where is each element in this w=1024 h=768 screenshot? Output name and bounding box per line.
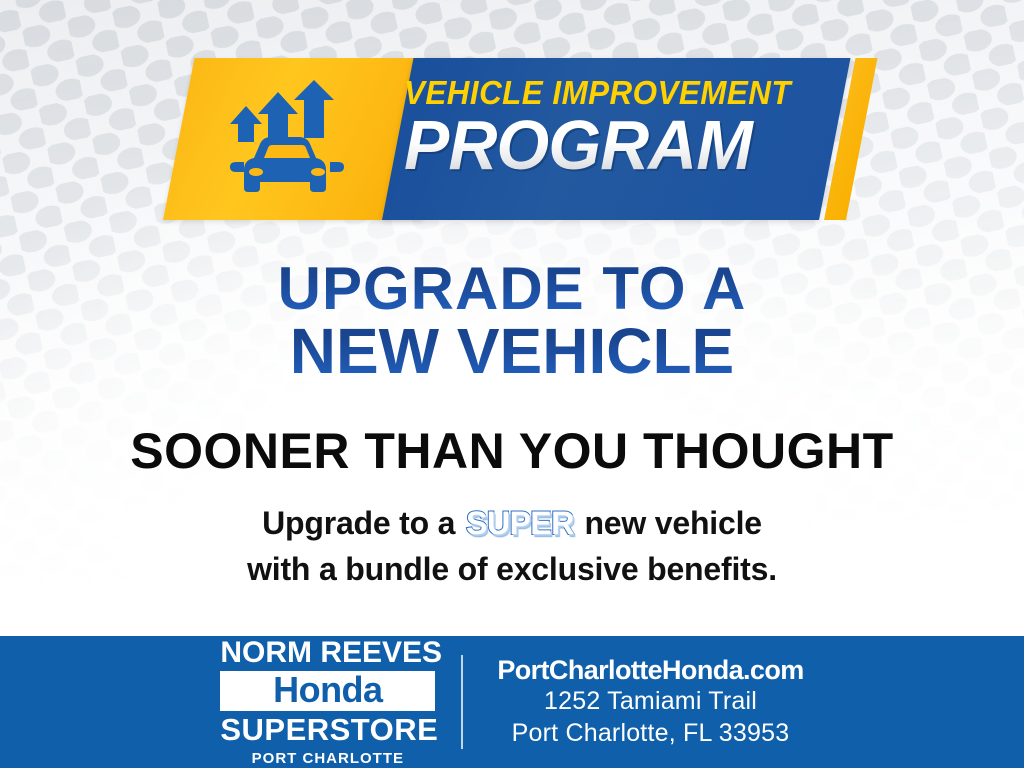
body-copy-text-after: new vehicle (584, 505, 761, 541)
program-banner: VEHICLE IMPROVEMENT PROGRAM (0, 58, 1024, 223)
dealer-logo-city: PORT CHARLOTTE (220, 750, 435, 767)
contact-website[interactable]: PortCharlotteHonda.com (497, 655, 803, 687)
dealer-logo-bottom: SUPERSTORE (220, 714, 435, 745)
contact-info: PortCharlotteHonda.com 1252 Tamiami Trai… (497, 655, 803, 750)
headline: UPGRADE TO A NEW VEHICLE (0, 258, 1024, 384)
super-highlight: SUPER (464, 505, 576, 541)
dealer-logo-top: NORM REEVES (220, 638, 435, 668)
body-copy-text-before: Upgrade to a (262, 505, 455, 541)
dealer-logo: NORM REEVES Honda SUPERSTORE PORT CHARLO… (220, 638, 435, 767)
body-copy-line-1: Upgrade to a SUPER new vehicle (0, 500, 1024, 546)
body-copy: Upgrade to a SUPER new vehicle with a bu… (0, 500, 1024, 593)
subheadline: SOONER THAN YOU THOUGHT (0, 422, 1024, 480)
contact-city-state-zip: Port Charlotte, FL 33953 (497, 718, 803, 750)
promotional-banner: VEHICLE IMPROVEMENT PROGRAM UPGRADE TO A… (0, 0, 1024, 768)
banner-title-line1: VEHICLE IMPROVEMENT (404, 70, 803, 109)
body-copy-line-2: with a bundle of exclusive benefits. (0, 546, 1024, 592)
headline-line-1: UPGRADE TO A (0, 258, 1024, 319)
dealer-logo-brand-box: Honda (220, 671, 435, 711)
contact-street: 1252 Tamiami Trail (497, 686, 803, 718)
footer-bar: NORM REEVES Honda SUPERSTORE PORT CHARLO… (0, 636, 1024, 768)
footer-divider (461, 655, 463, 749)
car-with-rising-arrows-icon (228, 80, 346, 202)
banner-title-line2: PROGRAM (404, 111, 811, 180)
dealer-logo-brand: Honda (220, 672, 435, 708)
banner-title-block: VEHICLE IMPROVEMENT PROGRAM (404, 70, 824, 212)
headline-line-2: NEW VEHICLE (0, 319, 1024, 384)
